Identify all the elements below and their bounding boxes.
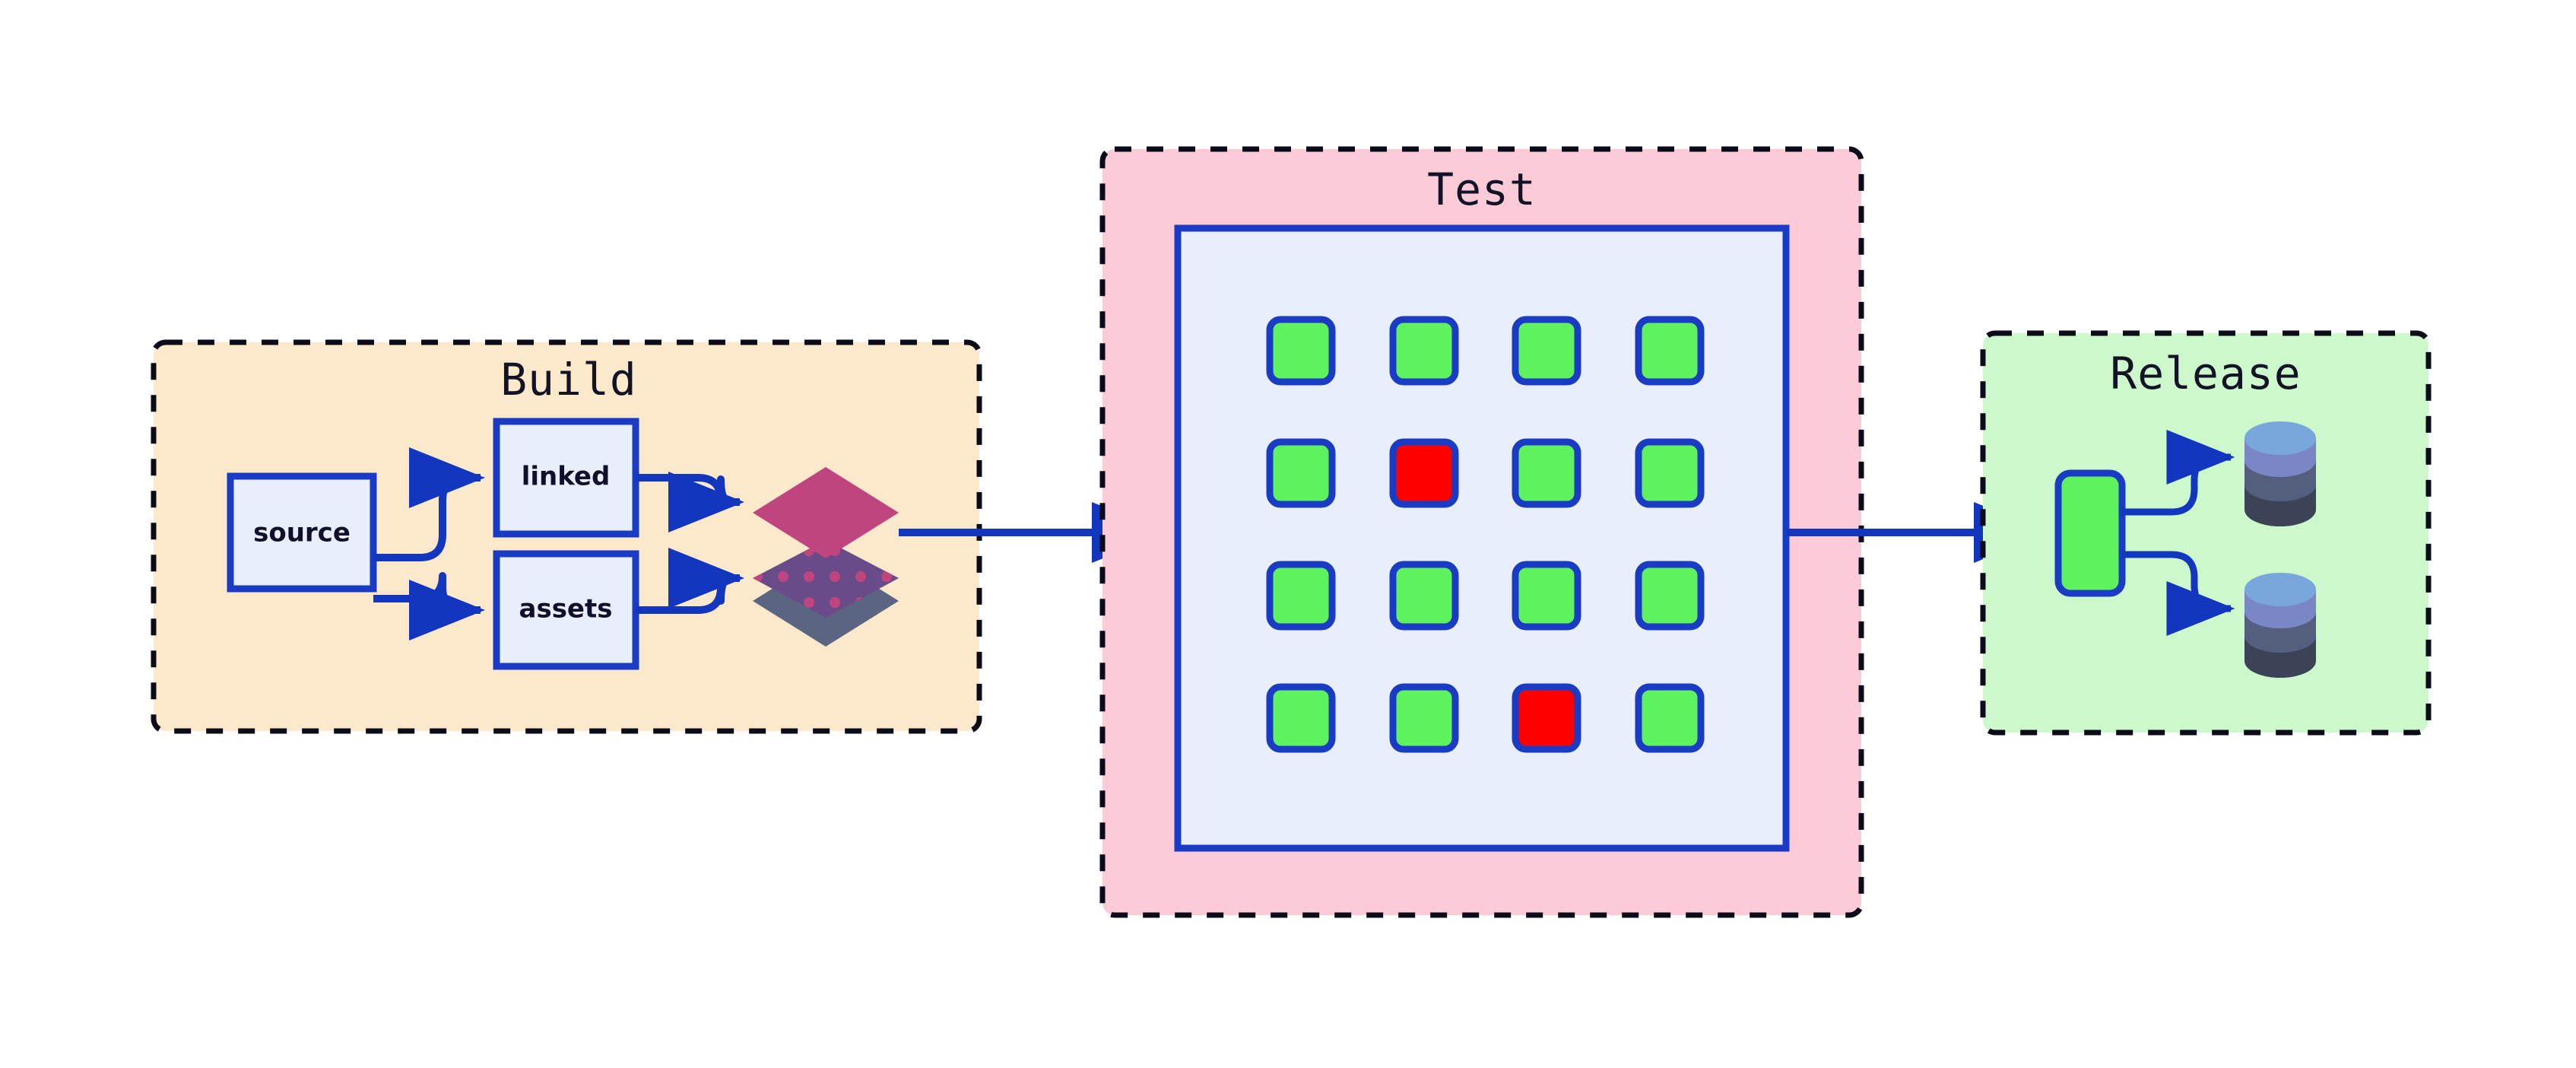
test-tile-r2c2[interactable] xyxy=(1393,442,1455,504)
test-tile-r3c4[interactable] xyxy=(1639,564,1701,627)
test-tile-r1c4[interactable] xyxy=(1639,319,1701,382)
stage-test[interactable]: Test xyxy=(1102,149,2045,915)
linked-label: linked xyxy=(522,462,611,492)
db2-top xyxy=(2244,573,2316,606)
test-tile-r1c1[interactable] xyxy=(1270,319,1332,382)
source-label: source xyxy=(253,518,351,548)
test-tile-r2c3[interactable] xyxy=(1515,442,1578,504)
test-tile-r4c1[interactable] xyxy=(1270,687,1332,749)
pipeline-diagram: Build source linked assets xyxy=(0,0,2576,1068)
node-linked[interactable]: linked xyxy=(496,421,636,534)
stage-release[interactable]: Release xyxy=(1983,333,2428,733)
test-tile-r1c2[interactable] xyxy=(1393,319,1455,382)
database-icon-1[interactable] xyxy=(2244,421,2316,526)
test-tile-r4c3[interactable] xyxy=(1515,687,1578,749)
diagram-canvas: Build source linked assets xyxy=(0,0,2576,1068)
test-tile-r2c4[interactable] xyxy=(1639,442,1701,504)
release-title: Release xyxy=(2110,348,2301,399)
test-tile-r3c2[interactable] xyxy=(1393,564,1455,627)
build-title: Build xyxy=(500,354,637,405)
node-assets[interactable]: assets xyxy=(496,554,636,666)
test-tile-r3c1[interactable] xyxy=(1270,564,1332,627)
test-tile-r4c4[interactable] xyxy=(1639,687,1701,749)
stage-build[interactable]: Build source linked assets xyxy=(154,342,1163,731)
test-title: Test xyxy=(1427,164,1537,215)
test-tile-r1c3[interactable] xyxy=(1515,319,1578,382)
release-artifact-box[interactable] xyxy=(2058,473,2122,593)
assets-label: assets xyxy=(519,594,613,625)
database-icon-2[interactable] xyxy=(2244,573,2316,678)
test-tile-r3c3[interactable] xyxy=(1515,564,1578,627)
test-tile-r2c1[interactable] xyxy=(1270,442,1332,504)
test-tile-r4c2[interactable] xyxy=(1393,687,1455,749)
db1-top xyxy=(2244,421,2316,455)
node-source[interactable]: source xyxy=(230,476,373,589)
